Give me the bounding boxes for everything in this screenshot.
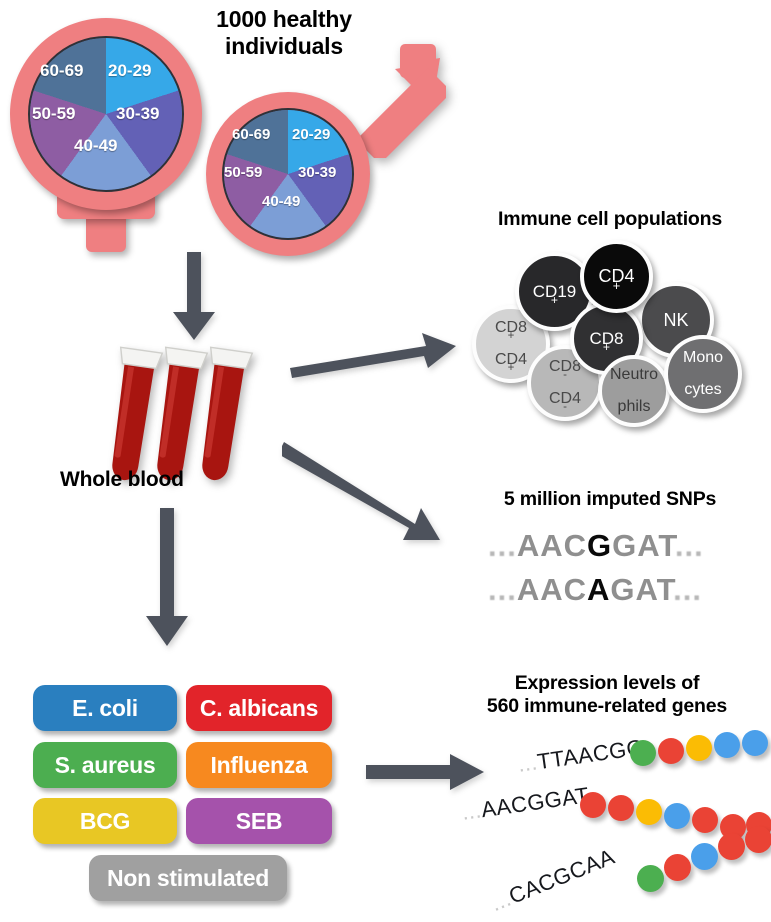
stimulus-s-aureus[interactable]: S. aureus <box>33 742 177 788</box>
expression-bead-3-2 <box>664 854 691 881</box>
expression-bead-2-4 <box>664 803 690 829</box>
snp-left-2: AAC <box>517 572 587 607</box>
expression-title-line1: Expression levels of <box>444 672 770 695</box>
stimulus-seb[interactable]: SEB <box>186 798 332 844</box>
expression-bead-3-5 <box>745 826 771 853</box>
expression-bead-3-4 <box>718 833 745 860</box>
expression-bead-1-3 <box>686 735 712 761</box>
expression-bead-2-3 <box>636 799 662 825</box>
section-title-immune: Immune cell populations <box>451 208 769 231</box>
cell-label-monocytes-l1: Mono <box>683 350 723 366</box>
expression-title-line2: 560 immune-related genes <box>444 695 770 718</box>
snp-variant-1: G <box>587 528 612 563</box>
expression-bead-2-1 <box>580 792 606 818</box>
expression-bead-1-2 <box>658 738 684 764</box>
cell-label-neutrophils-l1: Neutro <box>610 367 658 383</box>
expression-bead-3-1 <box>637 865 664 892</box>
snp-left-1: AAC <box>517 528 587 563</box>
stimulus-label-s-aureus: S. aureus <box>55 752 156 779</box>
expression-sequence-2: ...AACGGAT <box>460 782 591 826</box>
expression-bead-1-1 <box>630 740 656 766</box>
snp-sequence-block: ...AACGGAT... ...AACAGAT... <box>488 528 738 618</box>
stimulus-e-coli[interactable]: E. coli <box>33 685 177 731</box>
pie-label-50-59-female: 50-59 <box>32 104 75 124</box>
snp-prefix-2: ... <box>488 572 517 607</box>
pie-label-20-29-female: 20-29 <box>108 61 151 81</box>
pie-label-60-69-female: 60-69 <box>40 61 83 81</box>
arrow-blood-to-immune <box>288 330 458 380</box>
stimulus-label-c-albicans: C. albicans <box>200 695 318 722</box>
pie-label-40-49-female: 40-49 <box>74 136 117 156</box>
expression-seq-text-1: TTAACGG <box>536 734 646 774</box>
stimulus-influenza[interactable]: Influenza <box>186 742 332 788</box>
pie-label-50-59-male: 50-59 <box>224 164 262 181</box>
snp-suffix-1: ... <box>675 528 704 563</box>
section-title-expression: Expression levels of 560 immune-related … <box>444 672 770 718</box>
stimulus-label-e-coli: E. coli <box>72 695 138 722</box>
snp-variant-2: A <box>587 572 610 607</box>
snp-suffix-2: ... <box>673 572 702 607</box>
immune-cell-cluster: CD19+ CD4+ CD8+ CD4+ CD8+ NK CD8- CD4- N… <box>450 240 771 435</box>
pie-label-30-39-female: 30-39 <box>116 104 159 124</box>
cell-cd4: CD4+ <box>580 240 653 313</box>
expression-bead-1-5 <box>742 730 768 756</box>
expression-seq-text-3: CACGCAA <box>505 844 618 909</box>
stimulus-c-albicans[interactable]: C. albicans <box>186 685 332 731</box>
expression-strands: ...TTAACGG ...AACGGAT ...CACGCAA <box>440 730 771 922</box>
stimulus-non-stimulated[interactable]: Non stimulated <box>89 855 287 901</box>
stimulus-label-non-stimulated: Non stimulated <box>107 865 269 892</box>
snp-right-2: GAT <box>610 572 673 607</box>
snp-right-1: GAT <box>612 528 675 563</box>
snp-prefix-1: ... <box>488 528 517 563</box>
cell-label-neutrophils-l2: phils <box>610 399 658 415</box>
arrow-blood-to-snps <box>282 440 452 550</box>
section-title-snps: 5 million imputed SNPs <box>451 488 769 511</box>
snp-row-allele-1: ...AACGGAT... <box>488 528 704 564</box>
cell-monocytes: Mono cytes <box>664 335 742 413</box>
pie-label-30-39-male: 30-39 <box>298 164 336 181</box>
expression-bead-3-3 <box>691 843 718 870</box>
expression-bead-2-2 <box>608 795 634 821</box>
arrow-cohort-to-blood <box>171 252 217 342</box>
male-symbol: 60-69 20-29 50-59 30-39 40-49 <box>196 28 436 260</box>
expression-sequence-1: ...TTAACGG <box>516 734 645 777</box>
pie-label-40-49-male: 40-49 <box>262 193 300 210</box>
arrow-blood-to-stimuli <box>144 508 190 648</box>
cell-label-monocytes-l2: cytes <box>683 382 723 398</box>
expression-seq-text-2: AACGGAT <box>480 782 591 822</box>
pie-label-60-69-male: 60-69 <box>232 126 270 143</box>
expression-bead-1-4 <box>714 732 740 758</box>
expression-sequence-3: ...CACGCAA <box>487 844 618 917</box>
stimulus-bcg[interactable]: BCG <box>33 798 177 844</box>
cell-label-nk: NK <box>663 311 688 329</box>
pie-label-20-29-male: 20-29 <box>292 126 330 143</box>
stimulus-label-influenza: Influenza <box>211 752 308 779</box>
snp-row-allele-2: ...AACAGAT... <box>488 572 702 608</box>
cell-neutrophils: Neutro phils <box>598 355 670 427</box>
stimulus-label-bcg: BCG <box>80 808 130 835</box>
stimulus-label-seb: SEB <box>236 808 282 835</box>
label-whole-blood: Whole blood <box>60 468 280 493</box>
